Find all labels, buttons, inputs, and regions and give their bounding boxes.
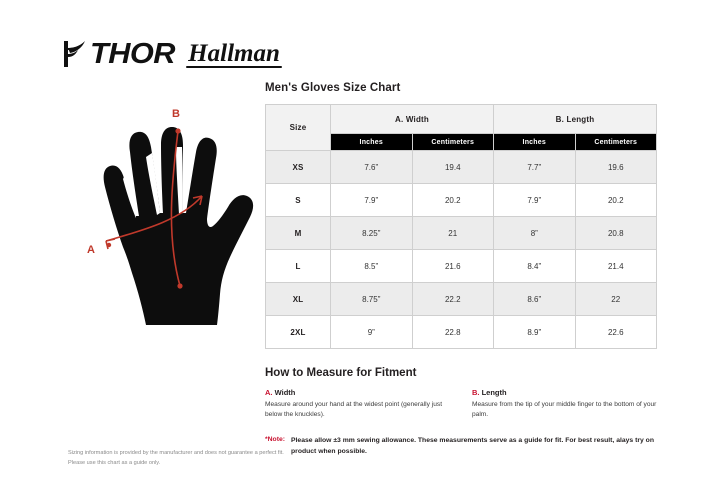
disclaimer-line-2: Please use this chart as a guide only. <box>68 458 328 468</box>
cell-length-centimeters: 20.2 <box>575 184 657 217</box>
how-to-measure-section: How to Measure for Fitment A. Width Meas… <box>265 367 657 420</box>
how-to-measure-length: B. Length Measure from the tip of your m… <box>472 388 657 420</box>
cell-width-centimeters: 21.6 <box>412 250 494 283</box>
cell-length-inches: 7.7” <box>494 151 576 184</box>
table-row: XS 7.6” 19.4 7.7” 19.6 <box>266 151 657 184</box>
glove-measurement-diagram: B A <box>60 95 265 330</box>
size-chart-table: Size A. Width B. Length Inches Centimete… <box>265 104 657 349</box>
cell-length-centimeters: 19.6 <box>575 151 657 184</box>
how-to-body-width: Measure around your hand at the widest p… <box>265 400 450 420</box>
cell-width-centimeters: 22.8 <box>412 316 494 349</box>
cell-width-inches: 9” <box>331 316 413 349</box>
header-group-length: B. Length <box>494 105 657 134</box>
thor-logo: THOR <box>62 39 170 69</box>
cell-length-inches: 7.9” <box>494 184 576 217</box>
cell-size: S <box>266 184 331 217</box>
thor-hammer-icon <box>62 39 88 69</box>
cell-length-inches: 8” <box>494 217 576 250</box>
cell-width-inches: 8.25” <box>331 217 413 250</box>
header-unit-width-centimeters: Centimeters <box>412 134 494 151</box>
cell-width-centimeters: 20.2 <box>412 184 494 217</box>
cell-width-inches: 7.6” <box>331 151 413 184</box>
how-to-name-length: Length <box>482 388 507 397</box>
table-header-groups: Size A. Width B. Length <box>266 105 657 134</box>
cell-width-centimeters: 21 <box>412 217 494 250</box>
table-head: Size A. Width B. Length Inches Centimete… <box>266 105 657 151</box>
note-text: Please allow ±3 mm sewing allowance. The… <box>291 436 657 458</box>
thor-wordmark: THOR <box>90 40 175 69</box>
diagram-label-a: A <box>87 244 95 256</box>
cell-size: M <box>266 217 331 250</box>
page-title: Men's Gloves Size Chart <box>265 82 657 94</box>
table-row: XL 8.75” 22.2 8.6” 22 <box>266 283 657 316</box>
table-row: L 8.5” 21.6 8.4” 21.4 <box>266 250 657 283</box>
cell-size: XL <box>266 283 331 316</box>
cell-length-centimeters: 22 <box>575 283 657 316</box>
disclaimer: Sizing information is provided by the ma… <box>68 448 328 469</box>
header-unit-length-inches: Inches <box>494 134 576 151</box>
header-unit-width-inches: Inches <box>331 134 413 151</box>
cell-width-inches: 7.9” <box>331 184 413 217</box>
table-row: S 7.9” 20.2 7.9” 20.2 <box>266 184 657 217</box>
cell-length-centimeters: 21.4 <box>575 250 657 283</box>
how-to-subtitle-length: B. Length <box>472 388 657 397</box>
how-to-measure-width: A. Width Measure around your hand at the… <box>265 388 450 420</box>
how-to-name-width: Width <box>275 388 296 397</box>
table-row: 2XL 9” 22.8 8.9” 22.6 <box>266 316 657 349</box>
cell-width-centimeters: 19.4 <box>412 151 494 184</box>
note-label: *Note: <box>265 436 285 443</box>
how-to-subtitle-width: A. Width <box>265 388 450 397</box>
how-to-body-length: Measure from the tip of your middle fing… <box>472 400 657 420</box>
cell-size: L <box>266 250 331 283</box>
cell-width-centimeters: 22.2 <box>412 283 494 316</box>
disclaimer-line-1: Sizing information is provided by the ma… <box>68 448 328 458</box>
brand-logo-row: THOR Hallman <box>62 32 284 76</box>
cell-size: XS <box>266 151 331 184</box>
cell-length-inches: 8.9” <box>494 316 576 349</box>
cell-length-centimeters: 22.6 <box>575 316 657 349</box>
header-size: Size <box>266 105 331 151</box>
cell-width-inches: 8.75” <box>331 283 413 316</box>
table-body: XS 7.6” 19.4 7.7” 19.6 S 7.9” 20.2 7.9” … <box>266 151 657 349</box>
how-to-letter-a: A. <box>265 388 273 397</box>
cell-width-inches: 8.5” <box>331 250 413 283</box>
table-row: M 8.25” 21 8” 20.8 <box>266 217 657 250</box>
header-unit-length-centimeters: Centimeters <box>575 134 657 151</box>
cell-length-inches: 8.4” <box>494 250 576 283</box>
how-to-measure-columns: A. Width Measure around your hand at the… <box>265 388 657 420</box>
how-to-letter-b: B. <box>472 388 480 397</box>
glove-illustration: B A <box>60 95 265 330</box>
diagram-label-b: B <box>172 108 180 120</box>
cell-length-inches: 8.6” <box>494 283 576 316</box>
hallman-wordmark: Hallman <box>184 41 284 68</box>
header-group-width: A. Width <box>331 105 494 134</box>
cell-size: 2XL <box>266 316 331 349</box>
size-chart-page: THOR Hallman B A Men's Gloves Size Ch <box>0 0 720 492</box>
how-to-measure-title: How to Measure for Fitment <box>265 367 657 379</box>
size-chart-content: Men's Gloves Size Chart Size A. Width B.… <box>265 82 657 458</box>
cell-length-centimeters: 20.8 <box>575 217 657 250</box>
